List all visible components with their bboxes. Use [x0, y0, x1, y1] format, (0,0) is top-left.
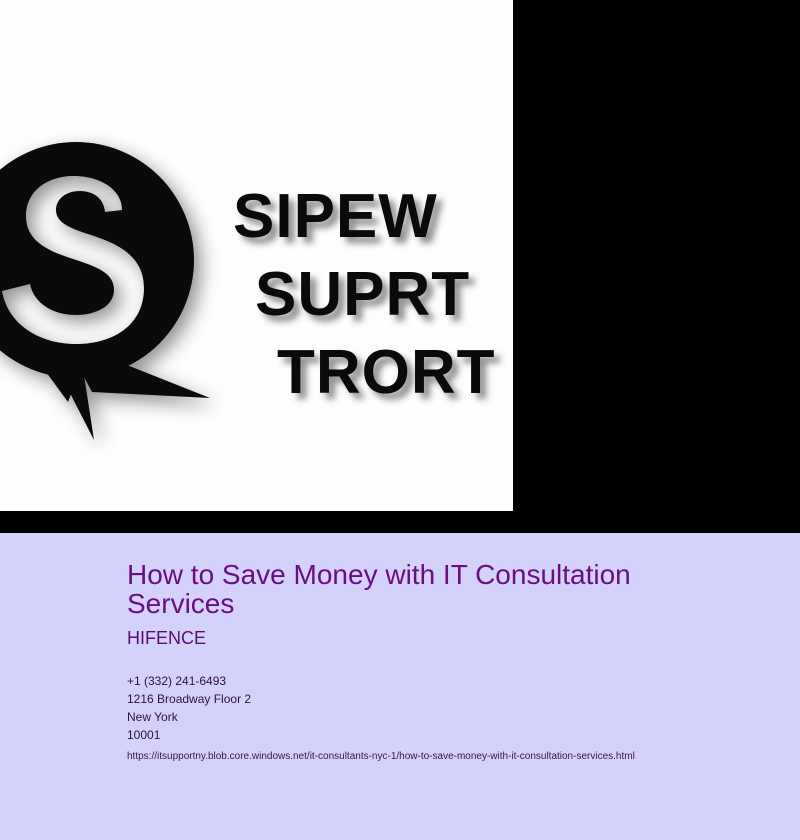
- contact-phone: +1 (332) 241-6493: [127, 672, 727, 690]
- logo-wordmark-line-1: SIPEW: [233, 178, 513, 256]
- logo-wordmark-line-2: SUPRT: [255, 256, 513, 334]
- contact-street: 1216 Broadway Floor 2: [127, 690, 727, 708]
- hero-image-area: SIPEW SUPRT TRORT: [0, 0, 800, 533]
- info-panel: How to Save Money with IT Consultation S…: [0, 533, 800, 840]
- contact-postal-code: 10001: [127, 726, 727, 744]
- info-panel-content: How to Save Money with IT Consultation S…: [127, 560, 727, 765]
- logo-wordmark: SIPEW SUPRT TRORT: [233, 178, 513, 412]
- logo-canvas: SIPEW SUPRT TRORT: [0, 0, 513, 511]
- page-root: SIPEW SUPRT TRORT How to Save Money with…: [0, 0, 800, 840]
- contact-block: +1 (332) 241-6493 1216 Broadway Floor 2 …: [127, 672, 727, 765]
- contact-city: New York: [127, 708, 727, 726]
- logo-wordmark-line-3: TRORT: [277, 334, 513, 412]
- brand-name: HIFENCE: [127, 627, 727, 649]
- speech-bubble-s-logo: [0, 140, 222, 450]
- speech-bubble-s-icon: [0, 140, 222, 450]
- source-url-link[interactable]: https://itsupportny.blob.core.windows.ne…: [127, 749, 727, 765]
- page-title: How to Save Money with IT Consultation S…: [127, 560, 727, 618]
